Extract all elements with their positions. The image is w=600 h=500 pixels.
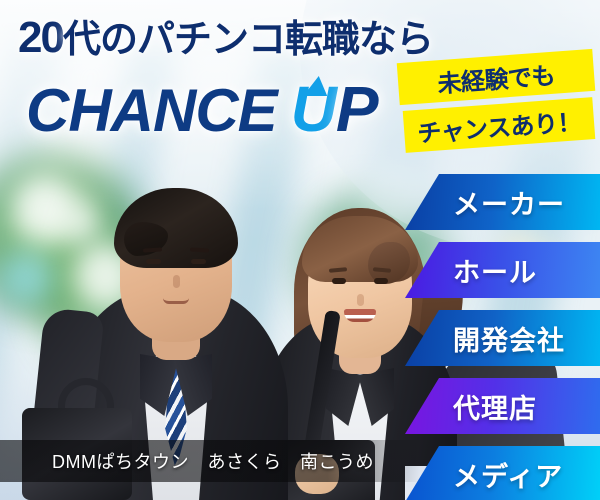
headline: 20代のパチンコ転職なら (18, 16, 438, 60)
headline-number: 20 (18, 13, 63, 62)
category-bar-developer[interactable]: 開発会社 (405, 310, 600, 366)
up-arrow-icon (303, 76, 331, 96)
category-bar-maker[interactable]: メーカー (405, 174, 600, 230)
logo-word-chance: CHANCE (26, 77, 277, 144)
promo-badge-line-2: チャンスあり！ (403, 97, 596, 153)
category-bar-agency[interactable]: 代理店 (405, 378, 600, 434)
logo-chance-up: CHANCEUP (26, 72, 426, 144)
category-bar-media[interactable]: メディア (405, 446, 600, 500)
headline-text: 代のパチンコ転職なら (63, 19, 433, 61)
logo-letter-p: P (336, 73, 378, 145)
ad-banner[interactable]: 20代のパチンコ転職なら CHANCEUP 未経験でも チャンスあり！ メーカー… (0, 0, 600, 500)
caption-text: DMMぱちタウン あさくら 南こうめ (52, 448, 374, 474)
promo-badge: 未経験でも チャンスあり！ (398, 56, 594, 156)
promo-badge-line-1: 未経験でも (397, 49, 596, 105)
category-bar-hall[interactable]: ホール (405, 242, 600, 298)
